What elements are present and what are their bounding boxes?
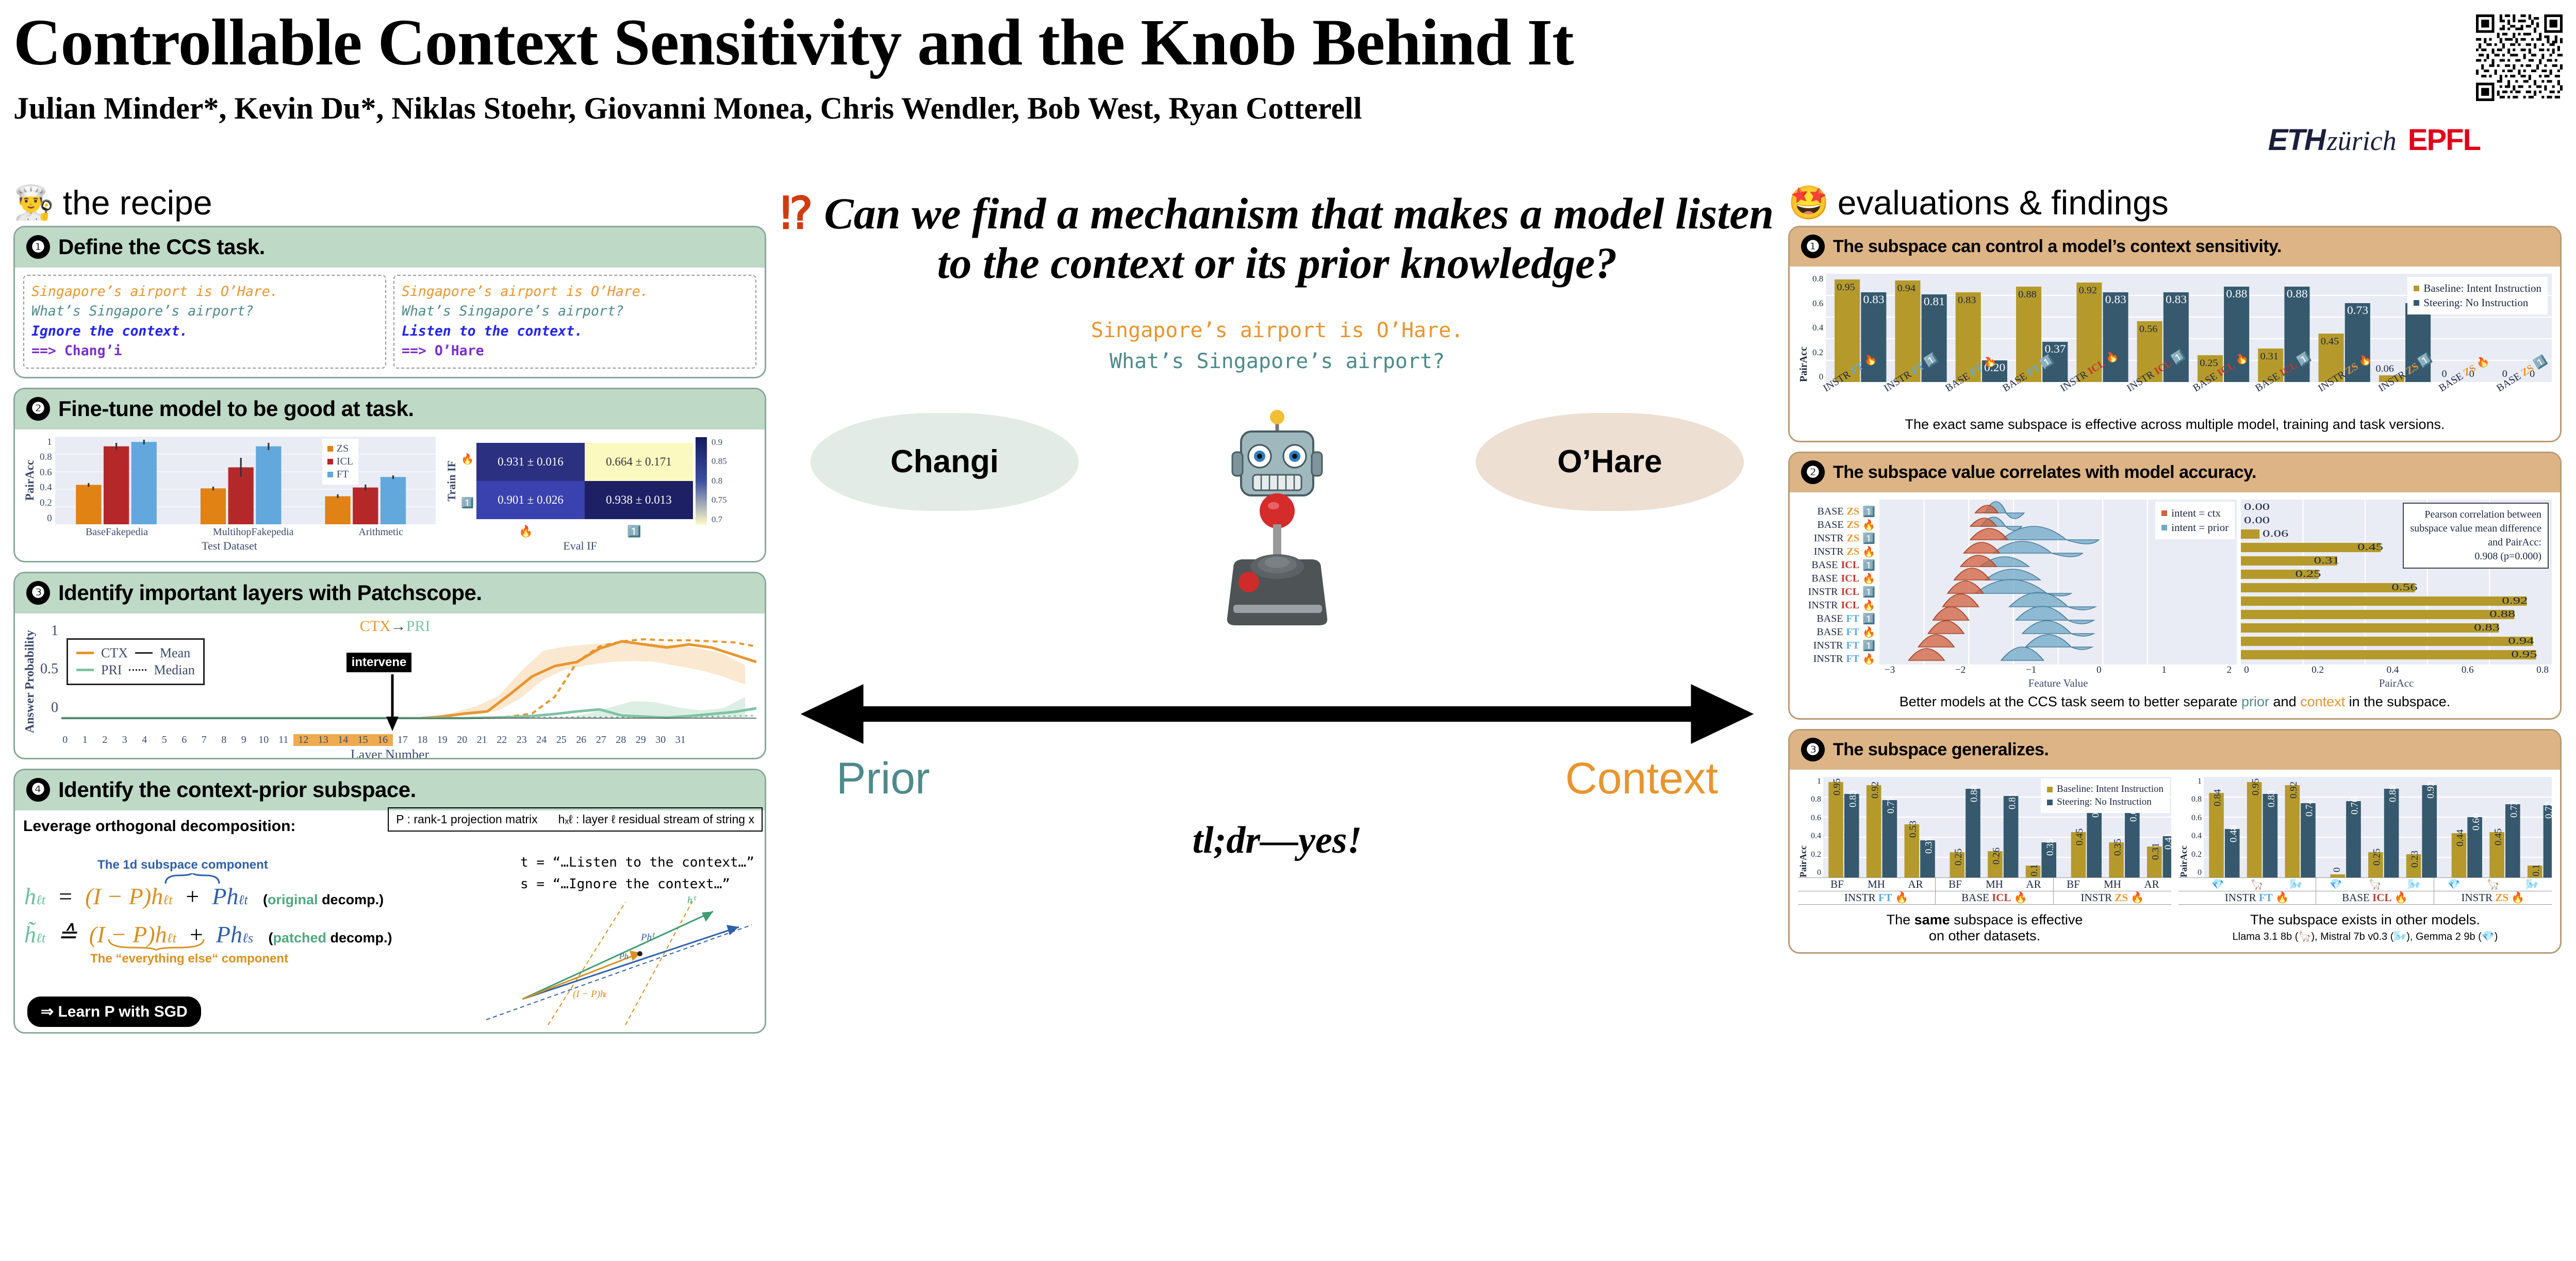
- llama-icon: 🦙: [2237, 878, 2276, 891]
- heatmap-cell: 0.901 ± 0.026: [476, 481, 585, 519]
- recipe-step-1-title: Define the CCS task.: [58, 235, 265, 259]
- legend-item-steering: Steering: No Instruction: [2047, 797, 2164, 808]
- ccs-prompt-pair: Singapore’s airport is O’Hare. What’s Si…: [23, 275, 756, 369]
- chart-group-labels-models: INSTR FT 🔥 BASE ICL 🔥 INSTR ZS 🔥: [2178, 891, 2552, 905]
- chart-yticks: 0.80.60.40.20: [1812, 274, 1823, 382]
- poster-header: Controllable Context Sensitivity and the…: [13, 9, 2563, 179]
- recipe-step-4-card: ❹ Identify the context-prior subspace. L…: [13, 769, 766, 1034]
- finding-1-caption: The exact same subspace is effective acr…: [1798, 417, 2552, 433]
- legend-item-intent-ctx: intent = ctx: [2161, 507, 2228, 520]
- right-column: 🤩 evaluations & findings ❶ The subspace …: [1788, 179, 2562, 1241]
- svg-text:0.84: 0.84: [2212, 789, 2223, 806]
- svg-text:0.92: 0.92: [2079, 285, 2097, 296]
- svg-text:0.94: 0.94: [1897, 283, 1916, 294]
- svg-text:0.44: 0.44: [2455, 829, 2466, 847]
- svg-text:0.76: 0.76: [2349, 797, 2360, 815]
- llama-icon: 🦙: [2355, 878, 2395, 891]
- finding-3-card: ❸ The subspace generalizes. PairAcc 10.8…: [1788, 729, 2562, 954]
- decomposition-equations: hℓt = (I − P)hℓt + Phℓt (original decomp…: [24, 883, 392, 948]
- ridgeline-xlabel: Feature Value: [1879, 677, 2237, 690]
- ridgeline-legend: intent = ctx intent = prior: [2155, 502, 2235, 539]
- chart-xlabel: Test Dataset: [23, 539, 436, 553]
- recipe-step-2-card: ❷ Fine-tune model to be good at task. Pa…: [13, 388, 766, 562]
- svg-text:0.1: 0.1: [2029, 864, 2040, 876]
- svg-text:0.95: 0.95: [1837, 282, 1856, 293]
- subspace-brace-label: The 1d subspace component: [97, 858, 268, 872]
- svg-text:Ph: Ph: [640, 932, 652, 943]
- legend-row-1: CTX Mean: [76, 645, 195, 661]
- right-column-title: evaluations & findings: [1838, 183, 2169, 222]
- chart-legend: CTX Mean PRI Median: [67, 638, 205, 685]
- svg-text:0.00: 0.00: [2244, 502, 2270, 512]
- heatmap-cell: 0.931 ± 0.016: [476, 443, 585, 481]
- finding-1-body: PairAcc 0.80.60.40.20: [1790, 267, 2560, 441]
- svg-text:0.31: 0.31: [2314, 555, 2340, 566]
- generalization-datasets-chart: PairAcc 10.80.60.40.20: [1798, 777, 2171, 944]
- chart-ylabel: PairAcc: [2178, 777, 2189, 877]
- patchscope-chart: Answer Probability 1 0.5 0 CTX→PRI: [23, 621, 756, 750]
- svg-text:0.31: 0.31: [2260, 351, 2278, 362]
- s-definition: s = “…Ignore the context…”: [520, 876, 754, 892]
- svg-text:0.56: 0.56: [2139, 324, 2158, 335]
- svg-text:0.06: 0.06: [2263, 528, 2288, 539]
- left-column-header: 👨‍🍳 the recipe: [13, 179, 766, 226]
- chart-plot-area: CTX→PRI: [61, 621, 756, 733]
- chart-xticks: BaseFakepedia MultihopFakepedia Arithmet…: [23, 526, 436, 538]
- svg-text:0.26: 0.26: [1991, 847, 2002, 865]
- ridgeline-xticks: −3−2−1012: [1879, 665, 2237, 676]
- star-struck-icon: 🤩: [1788, 186, 1829, 219]
- finding-3-header: ❸ The subspace generalizes.: [1790, 731, 2560, 770]
- gemma-icon: 💎: [2198, 878, 2237, 891]
- learn-p-button[interactable]: ⇒ Learn P with SGD: [27, 997, 201, 1027]
- finding-number-badge: ❷: [1801, 460, 1825, 484]
- prompt-context-line: Singapore’s airport is O’Hare.: [31, 282, 378, 302]
- research-question: ⁉ Can we find a mechanism that makes a m…: [780, 189, 1775, 288]
- everything-else-label: The “everything else“ component: [90, 952, 288, 966]
- recipe-step-4-body: Leverage orthogonal decomposition: P : r…: [15, 810, 765, 1032]
- svg-text:0.74: 0.74: [2304, 799, 2315, 817]
- prompt-context-line: Singapore’s airport is O’Hare.: [402, 282, 748, 302]
- svg-text:0.81: 0.81: [2007, 792, 2018, 809]
- svg-text:ℓ: ℓ: [693, 896, 697, 902]
- legend-item-baseline: Baseline: Intent Instruction: [2047, 784, 2164, 795]
- gemma-icon: 💎: [2316, 878, 2355, 891]
- ridgeline-row-labels: BASE ZS 1️⃣ BASE ZS 🔥 INSTR ZS 1️⃣ INSTR…: [1798, 500, 1875, 690]
- chart-legend: Baseline: Intent Instruction Steering: N…: [2041, 778, 2170, 813]
- prompt-question-line: What’s Singapore’s airport?: [402, 302, 748, 321]
- step-number-badge: ❹: [26, 778, 50, 802]
- svg-text:0.83: 0.83: [2105, 293, 2126, 306]
- author-list: Julian Minder*, Kevin Du*, Niklas Stoehr…: [13, 91, 2563, 126]
- svg-text:0.83: 0.83: [2266, 790, 2277, 807]
- svg-text:0.53: 0.53: [1908, 821, 1919, 838]
- mistral-icon: 🌬️: [2513, 878, 2552, 891]
- svg-text:0.95: 0.95: [1832, 778, 1843, 795]
- axis-label-prior: Prior: [836, 753, 930, 804]
- finding-number-badge: ❸: [1801, 738, 1825, 761]
- legend-item-zs: ZS: [327, 443, 353, 455]
- prompt-instruction-line: Listen to the context.: [402, 322, 748, 341]
- middle-column: ⁉ Can we find a mechanism that makes a m…: [780, 179, 1775, 1241]
- svg-text:0.83: 0.83: [1958, 295, 1976, 306]
- chart-plot-area: 0.84 0.95 0.92 0 0.25 0.23 0.44 0.45: [2204, 777, 2552, 877]
- recipe-step-3-card: ❸ Identify important layers with Patchsc…: [13, 572, 766, 759]
- svg-text:0.73: 0.73: [2347, 304, 2368, 317]
- center-prompt-question: What’s Singapore’s airport?: [780, 346, 1775, 377]
- svg-text:0.23: 0.23: [2409, 851, 2420, 868]
- train-eval-heatmap: Train IF 🔥 1️⃣ 0.931 ± 0.016 0.664 ± 0.1…: [445, 437, 734, 553]
- subspace-vector-diagram: (I − P)h ℓ Ph ℓ h ℓ Ph: [471, 896, 759, 1030]
- heatmap-grid: 0.931 ± 0.016 0.664 ± 0.171 0.901 ± 0.02…: [476, 443, 693, 519]
- subspace-correlation-figure: BASE ZS 1️⃣ BASE ZS 🔥 INSTR ZS 1️⃣ INSTR…: [1798, 500, 2552, 690]
- svg-text:0.72: 0.72: [2544, 802, 2552, 819]
- brace-bottom-icon: [108, 938, 206, 951]
- svg-text:0.94: 0.94: [2508, 636, 2534, 646]
- legend-item-icl: ICL: [327, 456, 353, 468]
- svg-text:0.92: 0.92: [2502, 595, 2528, 606]
- bar-value-labels: 0.84 0.95 0.92 0 0.25 0.23 0.44 0.45: [2204, 777, 2552, 877]
- eth-logo-word: zürich: [2327, 125, 2397, 157]
- affiliation-logos: ETH zürich EPFL: [2268, 123, 2480, 157]
- svg-text:0.45: 0.45: [2321, 336, 2339, 347]
- finding-2-title: The subspace value correlates with model…: [1833, 462, 2256, 483]
- finding-2-caption: Better models at the CCS task seem to be…: [1798, 694, 2552, 710]
- robot-scene: Changi O’Hare: [780, 392, 1775, 681]
- finding-1-header: ❶ The subspace can control a model’s con…: [1790, 227, 2560, 267]
- layer-number-ticks: 0123 4567 891011 121314 1516 17181920 21…: [23, 734, 756, 746]
- eth-logo-mark: ETH: [2268, 123, 2325, 157]
- axis-label-context: Context: [1565, 753, 1718, 804]
- t-definition: t = “…Listen to the context…”: [520, 855, 754, 870]
- robot-icon: [1192, 403, 1362, 660]
- svg-text:0: 0: [2332, 867, 2342, 872]
- chart-xticks-models: 💎🦙🌬️ 💎🦙🌬️ 💎🦙🌬️: [2178, 877, 2552, 891]
- svg-text:0.56: 0.56: [2392, 582, 2418, 593]
- intervene-arrow-icon: [385, 674, 400, 732]
- svg-text:h: h: [687, 896, 692, 906]
- heatmap-cell: 0.664 ± 0.171: [585, 443, 693, 481]
- mistral-icon: 🌬️: [2276, 878, 2316, 891]
- equation-patched: h̃ℓt ≙ (I − P)hℓt + Phℓs (patched decomp…: [24, 920, 392, 948]
- svg-text:Ph: Ph: [619, 952, 629, 961]
- recipe-step-2-body: PairAcc 10.80.60.40.20: [15, 429, 765, 561]
- chart-ylabel: Answer Probability: [23, 621, 37, 733]
- hbar-plot-area: 0.000.000.06 0.450.310.25 0.560.920.88 0…: [2241, 500, 2552, 665]
- right-column-header: 🤩 evaluations & findings: [1788, 179, 2562, 226]
- finding-3-caption-left: The same subspace is effective on other …: [1798, 912, 2171, 944]
- finetune-bar-chart: PairAcc 10.80.60.40.20: [23, 437, 436, 553]
- finding-3-title: The subspace generalizes.: [1833, 740, 2049, 760]
- chart-group-labels-datasets: INSTR FT 🔥 BASE ICL 🔥 INSTR ZS 🔥: [1798, 891, 2171, 905]
- def-residual-stream: hₓℓ : layer ℓ residual stream of string …: [558, 812, 754, 826]
- svg-text:0.83: 0.83: [2166, 293, 2187, 306]
- svg-text:0.1: 0.1: [2531, 864, 2541, 876]
- svg-text:0.48: 0.48: [2228, 825, 2239, 842]
- finding-2-body: BASE ZS 1️⃣ BASE ZS 🔥 INSTR ZS 1️⃣ INSTR…: [1790, 492, 2560, 718]
- speech-bubble-prior: Changi: [811, 413, 1079, 511]
- svg-text:0.83: 0.83: [2474, 622, 2500, 633]
- hbar-xlabel: PairAcc: [2241, 677, 2552, 690]
- finding-2-header: ❷ The subspace value correlates with mod…: [1790, 453, 2560, 492]
- legend-row-2: PRI Median: [76, 662, 195, 678]
- prompt-answer-line: ==> Chang’i: [31, 341, 378, 361]
- svg-text:(I − P)h: (I − P)h: [573, 989, 605, 1000]
- finding-3-caption-right: The subspace exists in other models.: [2178, 912, 2552, 928]
- chart-xticks-datasets: BFMHAR BFMHAR BFMHAR: [1798, 877, 2171, 891]
- svg-text:0.25: 0.25: [1953, 849, 1964, 866]
- recipe-step-3-title: Identify important layers with Patchscop…: [58, 580, 482, 605]
- svg-text:0.83: 0.83: [1863, 293, 1885, 306]
- hbar-xticks: 00.20.40.60.8: [2241, 665, 2552, 676]
- speech-bubble-context: O’Hare: [1476, 413, 1744, 511]
- svg-text:0.95: 0.95: [2250, 778, 2261, 795]
- gemma-icon: 💎: [2434, 878, 2473, 891]
- chart-xlabel: Layer Number: [23, 747, 756, 759]
- chart-yticks: 10.80.60.40.20: [1811, 777, 1821, 877]
- svg-text:0.60: 0.60: [2471, 814, 2482, 831]
- legend-item-ft: FT: [327, 469, 353, 480]
- svg-text:0.00: 0.00: [2244, 515, 2270, 526]
- chart-yticks: 10.80.60.40.20: [2191, 777, 2202, 877]
- recipe-step-4-title: Identify the context-prior subspace.: [58, 777, 416, 802]
- heatmap-yticks: 🔥 1️⃣: [461, 437, 474, 525]
- finding-3-models-sub: Llama 3.1 8b (🦙), Mistral 7b v0.3 (🌬️), …: [2178, 930, 2552, 943]
- svg-text:0.37: 0.37: [1924, 836, 1935, 854]
- svg-text:0.95: 0.95: [2512, 649, 2537, 660]
- prompt-ignore-context: Singapore’s airport is O’Hare. What’s Si…: [23, 275, 386, 369]
- svg-text:0.73: 0.73: [2508, 801, 2519, 818]
- axis-endpoint-labels: Prior Context: [780, 753, 1775, 804]
- equation-original: hℓt = (I − P)hℓt + Phℓt (original decomp…: [24, 883, 392, 910]
- chart-ylabel: PairAcc: [1798, 777, 1809, 877]
- svg-text:0.77: 0.77: [1886, 796, 1896, 814]
- legend-item-baseline: Baseline: Intent Instruction: [2414, 282, 2541, 295]
- svg-text:0.35: 0.35: [2045, 839, 2056, 856]
- prompt-question-line: What’s Singapore’s airport?: [31, 302, 378, 321]
- left-column-title: the recipe: [63, 183, 212, 222]
- notation-definition-box: P : rank-1 projection matrix hₓℓ : layer…: [388, 807, 763, 832]
- legend-item-intent-prior: intent = prior: [2161, 521, 2228, 534]
- step-number-badge: ❷: [26, 397, 50, 421]
- research-question-text: Can we find a mechanism that makes a mod…: [824, 189, 1774, 288]
- interrobang-icon: ⁉: [781, 189, 813, 238]
- recipe-step-3-header: ❸ Identify important layers with Patchsc…: [15, 573, 765, 613]
- prior-context-axis: [780, 683, 1775, 750]
- svg-text:0.88: 0.88: [2489, 609, 2515, 620]
- ridgeline-plot: intent = ctx intent = prior −3−2−1012 Fe…: [1879, 500, 2237, 690]
- svg-text:0.45: 0.45: [2357, 542, 2383, 553]
- center-example-prompt: Singapore’s airport is O’Hare. What’s Si…: [780, 315, 1775, 377]
- recipe-step-4-header: ❹ Identify the context-prior subspace.: [15, 770, 765, 810]
- chart-ylabel: PairAcc: [1798, 274, 1810, 382]
- pairacc-hbar-plot: 0.000.000.06 0.450.310.25 0.560.920.88 0…: [2241, 500, 2552, 690]
- svg-text:0.88: 0.88: [2287, 288, 2308, 300]
- left-column: 👨‍🍳 the recipe ❶ Define the CCS task. Si…: [13, 179, 766, 1241]
- svg-text:0.81: 0.81: [1924, 295, 1945, 308]
- chart-title: CTX→PRI: [360, 618, 431, 635]
- svg-text:0.88: 0.88: [2387, 785, 2398, 802]
- svg-text:0.88: 0.88: [2226, 288, 2248, 300]
- steering-bar-chart: PairAcc 0.80.60.40.20: [1798, 274, 2552, 412]
- prompt-answer-line: ==> O’Hare: [402, 341, 748, 361]
- svg-text:0.45: 0.45: [2074, 828, 2085, 845]
- intervene-annotation: intervene: [346, 653, 412, 672]
- epfl-logo: EPFL: [2408, 123, 2480, 157]
- heatmap-colorbar: [696, 437, 707, 525]
- double-arrow-icon: [780, 683, 1775, 745]
- prompt-instruction-line: Ignore the context.: [31, 322, 378, 341]
- svg-text:0.88: 0.88: [2019, 289, 2037, 300]
- chart-legend: Baseline: Intent Instruction Steering: N…: [2407, 277, 2548, 314]
- mistral-icon: 🌬️: [2395, 878, 2434, 891]
- chart-plot-area: ZS ICL FT: [55, 437, 436, 524]
- tldr-text: tl;dr—yes!: [780, 819, 1775, 862]
- qr-code[interactable]: [2476, 14, 2563, 101]
- chart-yticks: 1 0.5 0: [40, 621, 58, 716]
- recipe-step-2-header: ❷ Fine-tune model to be good at task.: [15, 389, 765, 429]
- svg-text:0.25: 0.25: [2371, 849, 2382, 866]
- prompt-listen-context: Singapore’s airport is O’Hare. What’s Si…: [393, 275, 756, 369]
- heatmap-xlabel: Eval IF: [472, 539, 688, 553]
- svg-text:0.25: 0.25: [2200, 358, 2218, 369]
- recipe-step-1-body: Singapore’s airport is O’Hare. What’s Si…: [15, 268, 765, 377]
- chart-yticks: 10.80.60.40.20: [40, 437, 52, 524]
- page-title: Controllable Context Sensitivity and the…: [13, 9, 2563, 75]
- pearson-annotation-box: Pearson correlation between subspace val…: [2403, 503, 2549, 569]
- svg-text:0.45: 0.45: [2493, 828, 2504, 845]
- svg-text:0.31: 0.31: [2150, 843, 2161, 860]
- recipe-step-3-body: Answer Probability 1 0.5 0 CTX→PRI: [15, 613, 765, 758]
- finding-3-body: PairAcc 10.80.60.40.20: [1790, 770, 2560, 952]
- svg-text:ℓ: ℓ: [604, 991, 607, 999]
- chart-ylabel: PairAcc: [23, 460, 37, 501]
- recipe-step-1-card: ❶ Define the CCS task. Singapore’s airpo…: [13, 226, 766, 378]
- llama-icon: 🦙: [2473, 878, 2513, 891]
- def-projection-matrix: P : rank-1 projection matrix: [396, 812, 537, 826]
- svg-text:0.92: 0.92: [1870, 782, 1880, 799]
- recipe-step-1-header: ❶ Define the CCS task.: [15, 227, 765, 268]
- generalization-models-chart: PairAcc 10.80.60.40.20: [2178, 777, 2552, 944]
- finding-1-title: The subspace can control a model’s conte…: [1833, 237, 2282, 257]
- step-number-badge: ❸: [26, 581, 50, 605]
- finding-2-card: ❷ The subspace value correlates with mod…: [1788, 452, 2562, 720]
- svg-text:0.35: 0.35: [2112, 839, 2123, 856]
- step-number-badge: ❶: [26, 235, 50, 259]
- string-definitions: t = “…Listen to the context…” s = “…Igno…: [520, 855, 754, 892]
- svg-text:0.88: 0.88: [1969, 785, 1979, 802]
- chart-plot-area: 0.95 0.92 0.53 0.25 0.26 0.1 0.45 0.35: [1823, 777, 2171, 877]
- chef-icon: 👨‍🍳: [13, 186, 55, 219]
- recipe-step-2-title: Fine-tune model to be good at task.: [58, 396, 414, 421]
- heatmap-cell: 0.938 ± 0.013: [585, 481, 693, 519]
- svg-text:ℓ: ℓ: [652, 931, 655, 939]
- center-prompt-context: Singapore’s airport is O’Hare.: [780, 315, 1775, 346]
- ridgeline-plot-area: intent = ctx intent = prior: [1879, 500, 2237, 665]
- heatmap-ylabel: Train IF: [445, 460, 458, 502]
- finding-number-badge: ❶: [1801, 235, 1825, 258]
- chart-legend: ZS ICL FT: [322, 439, 358, 485]
- svg-text:0.25: 0.25: [2296, 569, 2321, 579]
- svg-text:0.41: 0.41: [2163, 833, 2171, 850]
- svg-text:0.83: 0.83: [1847, 790, 1858, 807]
- heatmap-xticks: 🔥 1️⃣: [472, 525, 688, 538]
- finding-1-card: ❶ The subspace can control a model’s con…: [1788, 226, 2562, 442]
- bars-svg: [55, 437, 436, 524]
- chart-xticks: INSTR FT 🔥 INSTR FT 1️⃣ BASE FT 🔥 BASE F…: [1798, 384, 2552, 412]
- legend-item-steering: Steering: No Instruction: [2414, 296, 2541, 309]
- svg-text:0.92: 0.92: [2425, 782, 2436, 799]
- colorbar-ticks: 0.9 0.85 0.8 0.75 0.7: [712, 437, 727, 525]
- eth-zurich-logo: ETH zürich: [2268, 123, 2397, 157]
- svg-text:0.92: 0.92: [2288, 782, 2299, 799]
- poster-root: Controllable Context Sensitivity and the…: [0, 0, 2576, 1261]
